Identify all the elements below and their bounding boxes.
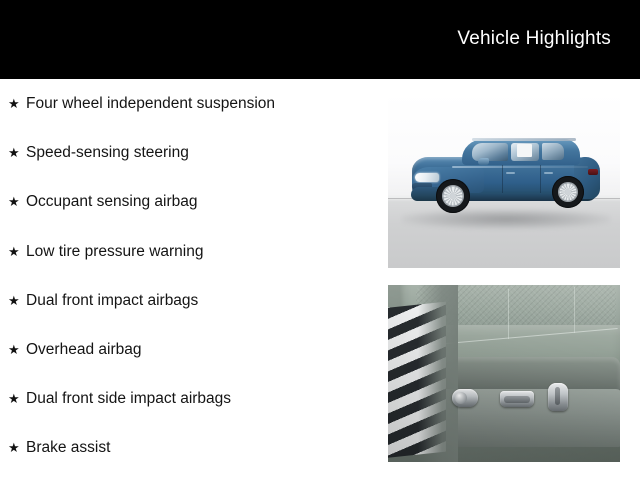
list-item: ★ Brake assist (0, 423, 380, 472)
star-icon: ★ (8, 343, 26, 356)
seat-stitching (508, 289, 509, 339)
header-bar: Vehicle Highlights (0, 0, 640, 79)
vehicle-side-mirror (478, 158, 489, 165)
media-column (388, 79, 620, 480)
vehicle-rocker-panel (458, 193, 562, 201)
list-item: ★ Four wheel independent suspension (0, 79, 380, 128)
seat-stitching (574, 287, 575, 333)
list-item-label: Overhead airbag (26, 340, 380, 359)
list-item: ★ Dual front side impact airbags (0, 374, 380, 423)
vehicle-beltline (452, 166, 588, 168)
list-item-label: Four wheel independent suspension (26, 94, 380, 113)
vehicle-roof-rail (472, 138, 576, 141)
vehicle-illustration (406, 131, 604, 227)
list-item: ★ Occupant sensing airbag (0, 177, 380, 226)
list-item: ★ Overhead airbag (0, 325, 380, 374)
vehicle-door-seam (502, 165, 503, 195)
star-icon: ★ (8, 195, 26, 208)
star-icon: ★ (8, 392, 26, 405)
star-icon: ★ (8, 146, 26, 159)
seat-recline-knob-icon (452, 389, 478, 407)
vehicle-rear-wheel (552, 176, 584, 208)
star-icon: ★ (8, 441, 26, 454)
list-item: ★ Speed-sensing steering (0, 128, 380, 177)
list-item-label: Dual front impact airbags (26, 291, 380, 310)
vehicle-door-handle (506, 172, 515, 174)
vehicle-rear-door-window (542, 143, 564, 160)
vehicle-windshield (472, 143, 508, 161)
content-area: ★ Four wheel independent suspension ★ Sp… (0, 79, 640, 480)
seat-height-rocker-icon (548, 383, 568, 411)
list-item-label: Brake assist (26, 438, 380, 457)
star-icon: ★ (8, 294, 26, 307)
vehicle-highlights-list: ★ Four wheel independent suspension ★ Sp… (0, 79, 380, 473)
vehicle-interior-seat-photo (388, 285, 620, 462)
vehicle-taillight (588, 169, 598, 175)
list-item: ★ Low tire pressure warning (0, 227, 380, 276)
seat-slide-control-icon (500, 391, 534, 407)
vehicle-front-wheel (436, 179, 470, 213)
vehicle-door-seam (540, 165, 541, 195)
vehicle-exterior-photo (388, 93, 620, 268)
list-item: ★ Dual front impact airbags (0, 276, 380, 325)
window-sticker (517, 144, 532, 157)
door-sill-shading (418, 285, 458, 462)
list-item-label: Low tire pressure warning (26, 242, 380, 261)
star-icon: ★ (8, 97, 26, 110)
list-item-label: Dual front side impact airbags (26, 389, 380, 408)
list-item-label: Speed-sensing steering (26, 143, 380, 162)
page-title: Vehicle Highlights (457, 28, 611, 50)
star-icon: ★ (8, 245, 26, 258)
vehicle-door-handle (544, 172, 553, 174)
vehicle-headlight (415, 173, 439, 182)
list-item-label: Occupant sensing airbag (26, 192, 380, 211)
